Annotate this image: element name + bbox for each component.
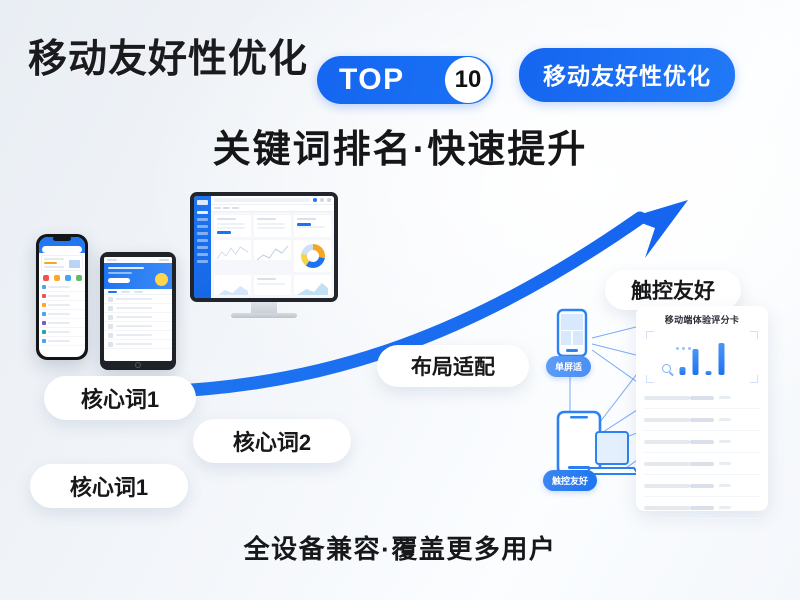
top-badge-number: 10 <box>445 57 491 103</box>
keyword-pill-1[interactable]: 核心词1 <box>44 376 196 420</box>
mobile-experience-panel: 单屏适 触控友好 移动端体验评分卡 <box>540 300 780 515</box>
footer-tagline: 全设备兼容·覆盖更多用户 <box>0 529 800 566</box>
table-row <box>644 409 760 431</box>
layout-adapt-pill[interactable]: 布局适配 <box>377 345 529 387</box>
mini-pill-single-screen: 单屏适 <box>546 356 591 377</box>
device-mockup-cluster <box>24 188 344 408</box>
scorecard-title: 移动端体验评分卡 <box>644 313 760 326</box>
phone-notch <box>53 236 71 241</box>
table-row <box>644 475 760 497</box>
keyword-pill-3[interactable]: 核心词1 <box>30 464 188 508</box>
scorecard-chart <box>646 331 758 383</box>
poster-canvas: 移动友好性优化 TOP 10 移动友好性优化 关键词排名·快速提升 <box>0 0 800 600</box>
top-badge-label: TOP <box>339 63 405 97</box>
phone-search-bar <box>42 246 82 253</box>
keyword-pill-2[interactable]: 核心词2 <box>193 419 351 463</box>
dashboard-topbar <box>211 196 334 205</box>
desktop-monitor-mockup <box>190 192 338 324</box>
table-row <box>644 387 760 409</box>
phone-mockup <box>36 234 88 360</box>
scorecard-card: 移动端体验评分卡 <box>636 306 768 511</box>
subtitle: 关键词排名·快速提升 <box>0 118 800 173</box>
top-rank-badge: TOP 10 <box>317 56 493 104</box>
blue-tag-badge: 移动友好性优化 <box>519 48 735 102</box>
table-row <box>644 453 760 475</box>
table-row <box>644 497 760 519</box>
tablet-mockup <box>100 252 176 370</box>
page-title: 移动友好性优化 <box>28 28 308 84</box>
table-row <box>644 431 760 453</box>
dashboard-sidebar <box>194 196 211 298</box>
magnifier-icon <box>662 364 671 373</box>
donut-chart <box>301 244 325 268</box>
mini-pill-touch-friendly: 触控友好 <box>543 470 597 491</box>
